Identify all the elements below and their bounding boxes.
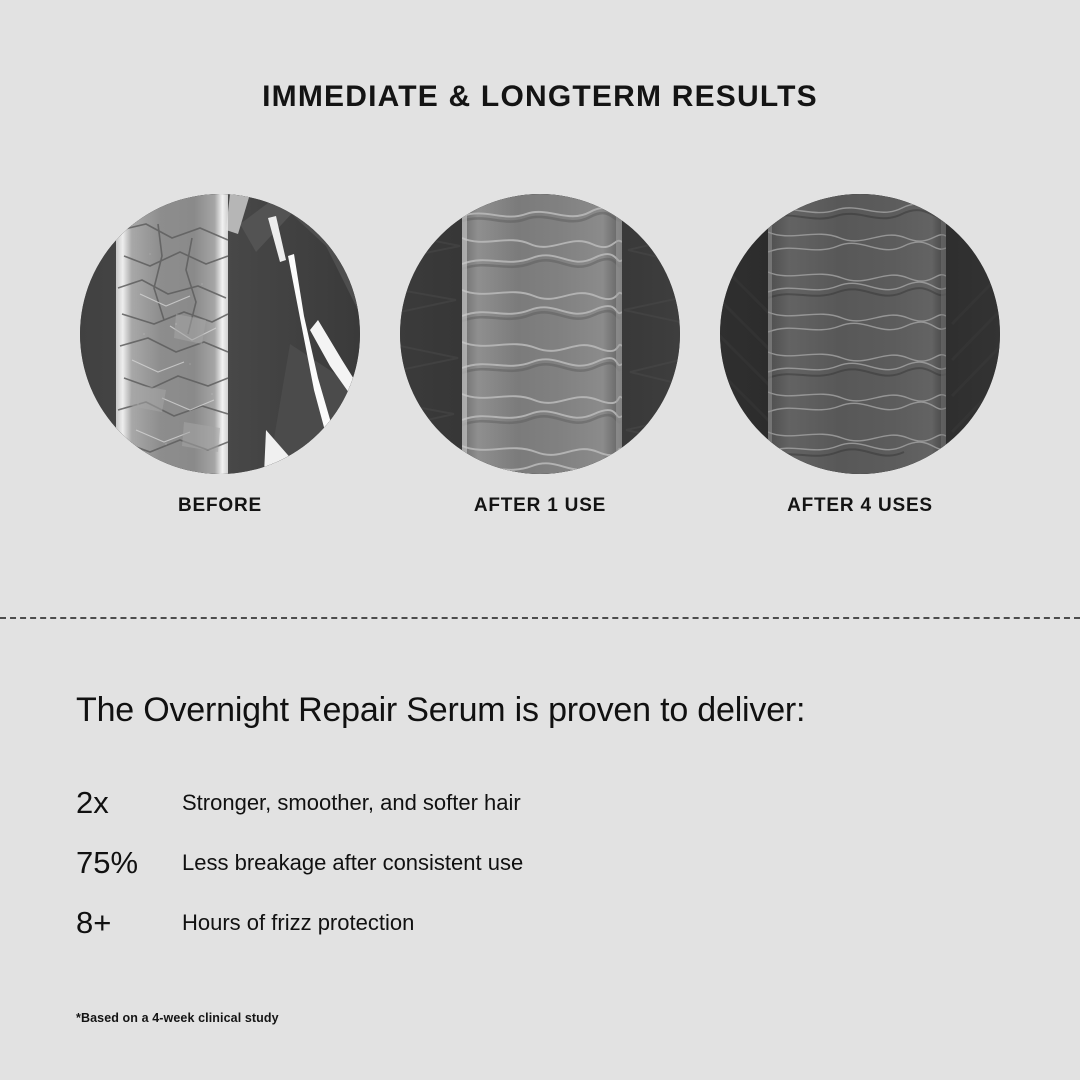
caption-before: BEFORE	[80, 495, 360, 517]
comparison-item-before	[80, 194, 360, 474]
results-infographic: IMMEDIATE & LONGTERM RESULTS	[0, 0, 1080, 1080]
section-divider	[0, 617, 1080, 619]
comparison-item-after-4-uses	[720, 194, 1000, 474]
claims-footnote: *Based on a 4-week clinical study	[76, 1011, 279, 1025]
claim-row: 75% Less breakage after consistent use	[76, 844, 876, 904]
claim-row: 2x Stronger, smoother, and softer hair	[76, 784, 876, 844]
claim-text: Hours of frizz protection	[182, 908, 414, 938]
claims-heading: The Overnight Repair Serum is proven to …	[76, 691, 805, 730]
comparison-image-row	[0, 194, 1080, 484]
claim-stat: 8+	[76, 904, 176, 942]
caption-after-4-uses: AFTER 4 USES	[720, 495, 1000, 517]
claims-list: 2x Stronger, smoother, and softer hair 7…	[76, 784, 876, 964]
caption-after-1-use: AFTER 1 USE	[400, 495, 680, 517]
claim-row: 8+ Hours of frizz protection	[76, 904, 876, 964]
page-title: IMMEDIATE & LONGTERM RESULTS	[0, 82, 1080, 112]
claim-text: Less breakage after consistent use	[182, 848, 523, 878]
sem-hair-fiber-damaged-image	[80, 194, 360, 474]
claim-text: Stronger, smoother, and softer hair	[182, 788, 521, 818]
claim-stat: 2x	[76, 784, 176, 822]
sem-hair-fiber-after-four-uses-image	[720, 194, 1000, 474]
comparison-item-after-1-use	[400, 194, 680, 474]
claim-stat: 75%	[76, 844, 176, 882]
sem-hair-fiber-after-one-use-image	[400, 194, 680, 474]
